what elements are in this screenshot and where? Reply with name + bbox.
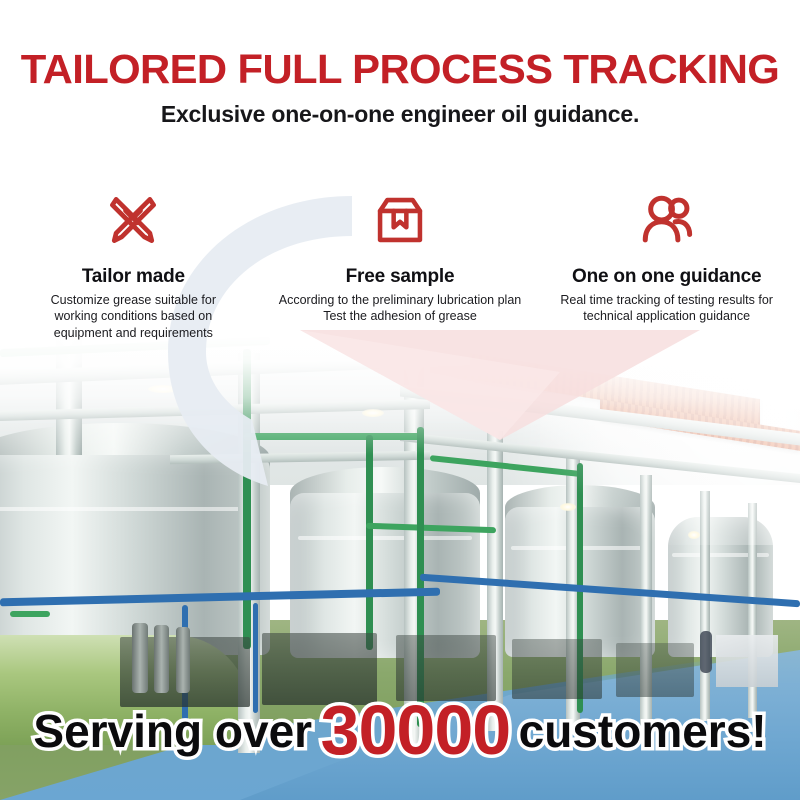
feature-title: Free sample <box>346 267 455 288</box>
photo-cylinder-1 <box>132 623 148 693</box>
feature-item-tailor-made: Tailor made Customize grease suitable fo… <box>0 185 267 341</box>
banner-prefix-text: Serving over <box>33 708 312 754</box>
photo-cylinder-3 <box>176 627 190 693</box>
feature-item-free-sample: Free sample According to the preliminary… <box>267 185 534 325</box>
feature-title: One on one guidance <box>572 267 761 288</box>
crossed-ruler-pencil-icon <box>103 185 163 255</box>
photo-cylinder-2 <box>154 625 169 693</box>
poster-root: TAILORED FULL PROCESS TRACKING Exclusive… <box>0 0 800 800</box>
feature-item-one-on-one-guidance: One on one guidance Real time tracking o… <box>533 185 800 325</box>
photo-right-fade <box>540 335 800 545</box>
feature-title: Tailor made <box>82 267 185 288</box>
photo-green-pipe-left <box>10 611 50 617</box>
feature-description: Real time tracking of testing results fo… <box>541 292 793 325</box>
page-title: TAILORED FULL PROCESS TRACKING <box>0 49 800 90</box>
feature-list: Tailor made Customize grease suitable fo… <box>0 185 800 345</box>
package-box-icon <box>371 185 429 255</box>
banner-customer-count: 30000 <box>321 695 511 765</box>
bottom-banner: Serving over 30000 customers! <box>0 688 800 758</box>
feature-description: Customize grease suitable for working co… <box>33 292 233 342</box>
photo-green-pipe-vertical-2 <box>366 435 373 650</box>
banner-suffix-text: customers! <box>519 708 767 754</box>
feature-description: According to the preliminary lubrication… <box>267 292 533 325</box>
photo-pallet-stack <box>716 635 778 687</box>
photo-worker <box>700 631 712 673</box>
two-people-icon <box>638 185 696 255</box>
page-subtitle: Exclusive one-on-one engineer oil guidan… <box>0 101 800 127</box>
